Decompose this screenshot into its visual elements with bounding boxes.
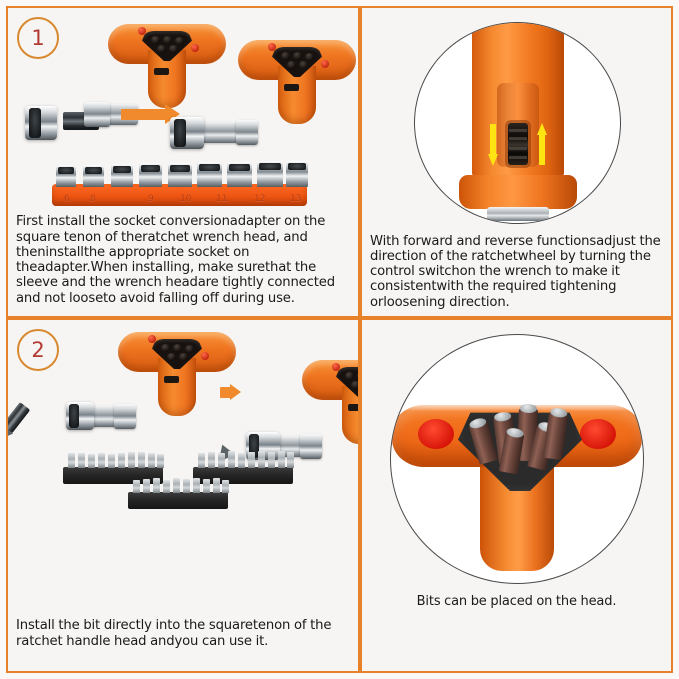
panel-step-2: 2 xyxy=(6,318,360,673)
t-handle-grip xyxy=(302,360,360,448)
handle-slot xyxy=(154,68,169,75)
red-circle-left xyxy=(418,419,454,449)
strip-bit xyxy=(248,452,255,468)
strip-bit xyxy=(213,478,220,493)
rail-socket xyxy=(56,165,76,187)
rail-socket xyxy=(286,161,308,187)
panel-4-caption: Bits can be placed on the head. xyxy=(362,594,671,609)
panel-3-caption: Install the bit directly into the square… xyxy=(8,618,358,649)
rail-socket xyxy=(139,163,162,187)
strip-bit xyxy=(108,454,115,468)
strip-bit xyxy=(222,480,229,493)
wrench-collar xyxy=(84,102,110,127)
loose-socket xyxy=(25,106,57,140)
strip-bit xyxy=(258,451,265,468)
rail-socket-bore xyxy=(85,167,102,174)
strip-bit xyxy=(287,452,294,468)
strip-bit xyxy=(198,453,205,468)
rail-socket-bore xyxy=(58,167,74,174)
strip-bit xyxy=(78,453,85,468)
rail-label-1: 8 xyxy=(90,194,96,204)
yellow-up-arrow-icon xyxy=(537,123,547,165)
strip-bit xyxy=(203,479,210,493)
infographic-board: 1 xyxy=(0,0,679,679)
mounted-socket xyxy=(170,117,204,149)
handle-rivet xyxy=(148,335,156,343)
rail-label-6: 13 xyxy=(290,194,301,204)
pad-hole xyxy=(173,344,182,352)
rail-socket-bore xyxy=(113,166,131,173)
step-number-badge-2: 2 xyxy=(17,329,59,371)
pad-hole xyxy=(305,53,314,61)
strip-bit xyxy=(98,453,105,468)
socket-bore xyxy=(29,108,41,138)
handle-flange xyxy=(459,175,577,209)
switch-rib xyxy=(509,129,527,132)
pad-hole xyxy=(161,344,170,352)
rail-socket-bore xyxy=(170,165,190,172)
t-handle-grip xyxy=(118,332,236,420)
bit-sleeve xyxy=(66,402,94,430)
strip-bit xyxy=(228,451,235,468)
rail-label-4: 11 xyxy=(216,194,227,204)
strip-bit xyxy=(153,478,160,493)
rail-socket-bore xyxy=(199,164,220,171)
panel-2-caption: With forward and reverse functionsadjust… xyxy=(362,234,671,310)
yellow-down-arrow-icon xyxy=(488,124,498,166)
arrow-head xyxy=(537,123,547,135)
rail-socket-bore xyxy=(259,163,281,170)
sleeve-bore xyxy=(69,404,79,428)
strip-bit xyxy=(173,478,180,493)
strip-bit xyxy=(138,452,145,468)
panel-1-caption: First install the socket conversionadapt… xyxy=(8,214,358,306)
pad-hole xyxy=(163,36,172,44)
handle-head-top-view xyxy=(392,405,642,584)
strip-bit xyxy=(183,479,190,493)
strip-bit xyxy=(68,453,75,468)
strip-bit xyxy=(218,453,225,468)
arrow-tail xyxy=(121,109,167,120)
strip-bit xyxy=(143,479,150,493)
bit-body xyxy=(6,402,30,434)
strip-bit xyxy=(278,451,285,468)
handle-rivet xyxy=(332,363,340,371)
pad-hole xyxy=(157,45,166,53)
handle-slot xyxy=(348,404,360,411)
rail-label-3: 10 xyxy=(180,194,191,204)
rail-socket xyxy=(111,164,133,187)
rail-socket xyxy=(197,162,222,187)
pad-hole xyxy=(351,381,360,389)
panel-detail-bit-storage: Bits can be placed on the head. xyxy=(360,318,673,673)
strip-bit xyxy=(157,454,164,468)
pad-hole xyxy=(185,345,194,353)
t-handle-grip xyxy=(108,24,226,112)
step-number-badge-1: 1 xyxy=(17,17,59,59)
pad-hole xyxy=(345,372,354,380)
direction-control-switch[interactable] xyxy=(508,123,528,165)
rail-socket-bore xyxy=(288,163,306,170)
pad-hole xyxy=(169,45,178,53)
assembly-arrow-icon xyxy=(220,382,244,402)
strip-bit xyxy=(128,452,135,468)
handle-rivet xyxy=(321,60,329,68)
panel-4-artwork xyxy=(362,320,671,671)
handle-rivet xyxy=(191,44,199,52)
rail-socket xyxy=(83,165,104,187)
switch-rib xyxy=(509,147,527,150)
pad-hole xyxy=(293,52,302,60)
rail-label-2: 9 xyxy=(148,194,154,204)
switch-rib xyxy=(509,156,527,159)
pad-hole xyxy=(281,52,290,60)
pad-hole xyxy=(287,61,296,69)
pad-hole xyxy=(179,353,188,361)
strip-bit xyxy=(238,453,245,468)
strip-bit xyxy=(208,452,215,468)
panel-step-1: 1 xyxy=(6,6,360,318)
arrow-head xyxy=(488,154,498,166)
rail-socket-bore xyxy=(141,165,160,172)
handle-rivet xyxy=(201,352,209,360)
switch-rib xyxy=(509,137,527,140)
strip-bit xyxy=(193,478,200,493)
rail-label-5: 12 xyxy=(254,194,265,204)
arrow-stem xyxy=(490,124,496,154)
red-circle-right xyxy=(580,419,616,449)
bit-cap xyxy=(520,404,537,414)
strip-bit xyxy=(133,480,140,493)
strip-bit xyxy=(163,480,170,493)
rail-label-0: 6 xyxy=(64,194,70,204)
socket-bore xyxy=(174,119,186,147)
handle-slot xyxy=(284,84,299,91)
strip-bit xyxy=(148,453,155,468)
bit-holder-strip-bottom xyxy=(128,492,228,509)
chrome-chuck xyxy=(487,207,549,221)
bit-cap xyxy=(494,411,512,422)
pad-hole xyxy=(151,36,160,44)
zoom-circle-head xyxy=(390,334,644,584)
pad-hole xyxy=(175,37,184,45)
pad-hole xyxy=(299,61,308,69)
rail-socket xyxy=(227,162,252,187)
t-handle-grip xyxy=(238,40,356,128)
handle-rivet xyxy=(138,27,146,35)
arrow-stem xyxy=(539,135,545,165)
handle-slot xyxy=(164,376,179,383)
rail-socket xyxy=(168,163,192,187)
zoom-circle-switch xyxy=(414,22,621,224)
socket-storage-rail: 6 8 9 10 11 12 13 xyxy=(52,184,307,206)
strip-bit xyxy=(88,454,95,468)
pad-hole xyxy=(167,353,176,361)
strip-bit xyxy=(118,453,125,468)
panel-detail-switch: With forward and reverse functionsadjust… xyxy=(360,6,673,318)
rail-socket xyxy=(257,161,283,187)
arrow-head xyxy=(230,384,241,400)
strip-bit xyxy=(268,452,275,468)
handle-rivet xyxy=(268,43,276,51)
rail-socket-bore xyxy=(229,164,250,171)
